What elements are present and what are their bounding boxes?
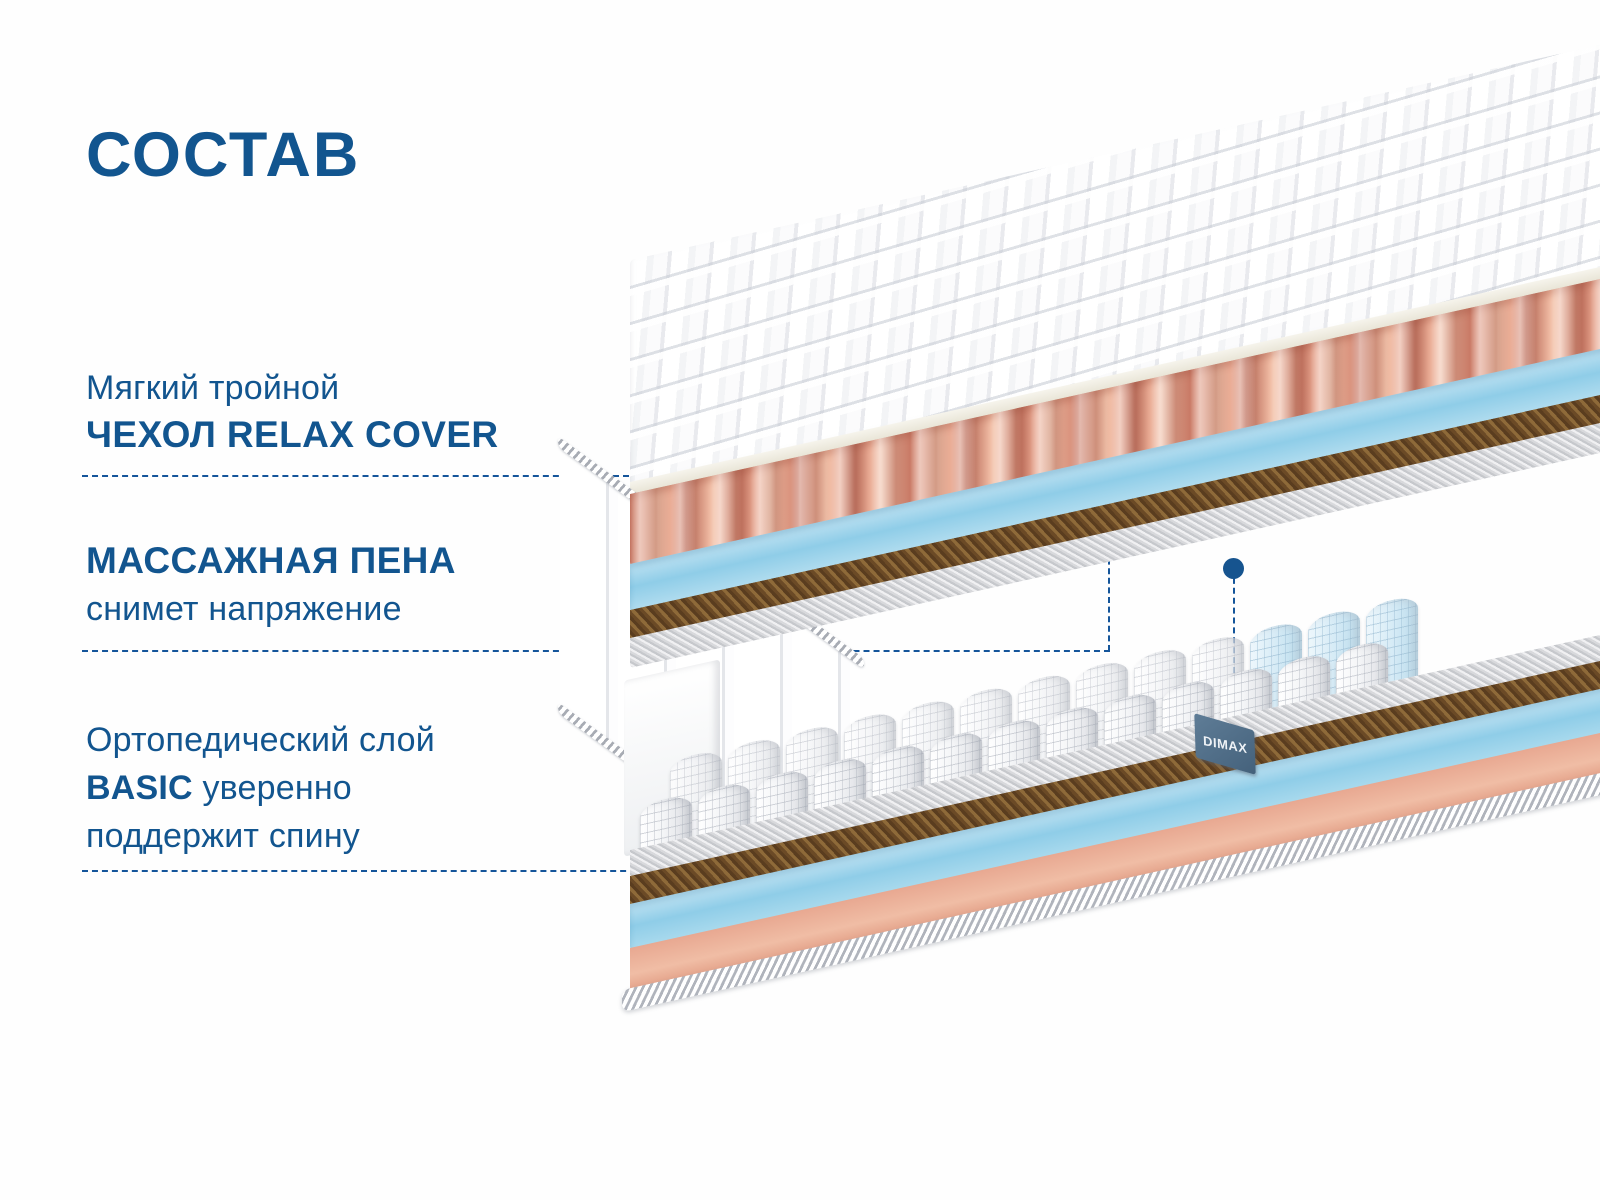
callout-ortho-line-2: BASIC уверенно — [86, 764, 435, 812]
callout-foam-line-1: МАССАЖНАЯ ПЕНА — [86, 536, 456, 586]
callout-ortho-layer: Ортопедический слой BASIC уверенно подде… — [86, 716, 435, 860]
mattress-cutaway-illustration: DIMAX — [560, 250, 1600, 970]
brand-tag-label: DIMAX — [1203, 732, 1248, 755]
callout-ortho-line-2-rest: уверенно — [193, 769, 352, 807]
infographic-canvas: СОСТАВ Мягкий тройной ЧЕХОЛ RELAX COVER … — [0, 0, 1600, 1200]
callout-cover: Мягкий тройной ЧЕХОЛ RELAX COVER — [86, 366, 499, 460]
callout-ortho-strong: BASIC — [86, 769, 193, 807]
callout-ortho-line-1: Ортопедический слой — [86, 716, 435, 764]
callout-ortho-line-3: поддержит спину — [86, 812, 435, 860]
callout-foam-line-2: снимет напряжение — [86, 586, 456, 632]
callout-massage-foam: МАССАЖНАЯ ПЕНА снимет напряжение — [86, 536, 456, 632]
page-title: СОСТАВ — [86, 124, 360, 187]
callout-cover-line-1: Мягкий тройной — [86, 366, 499, 410]
callout-cover-line-2: ЧЕХОЛ RELAX COVER — [86, 410, 499, 460]
